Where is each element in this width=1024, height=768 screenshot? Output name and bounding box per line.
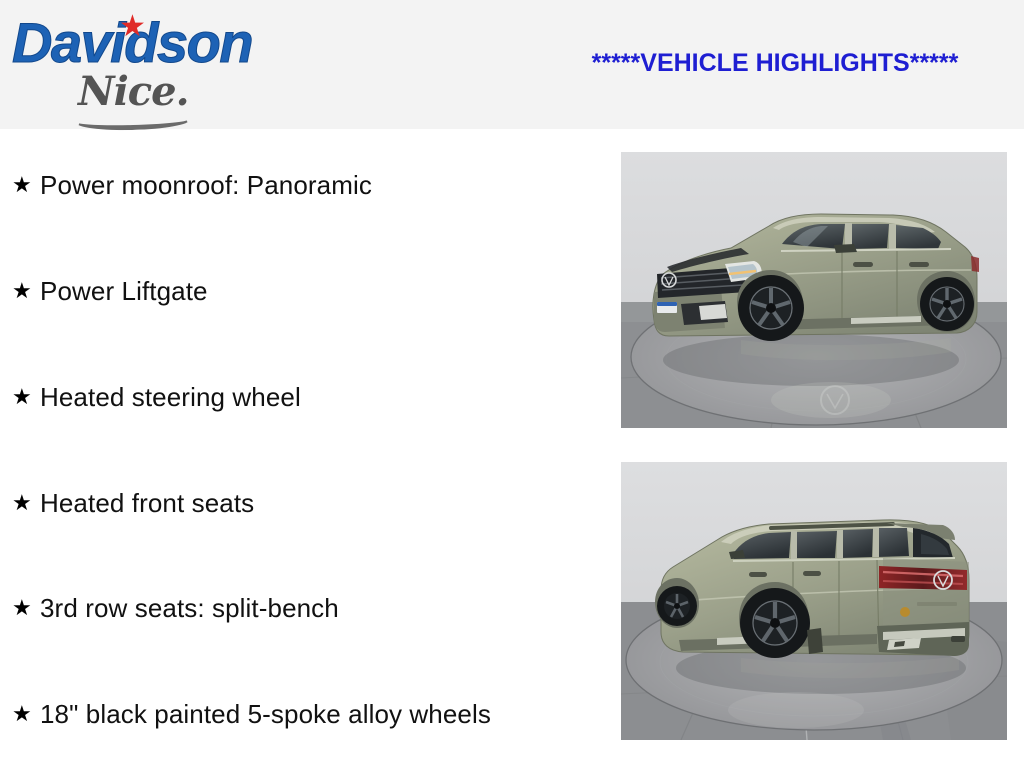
list-item: ★ Heated steering wheel bbox=[12, 380, 301, 414]
list-item: ★ 18" black painted 5-spoke alloy wheels bbox=[12, 697, 491, 731]
list-item-label: Power Liftgate bbox=[40, 274, 208, 308]
vehicle-rear-illustration bbox=[621, 462, 1007, 740]
list-item-label: 3rd row seats: split-bench bbox=[40, 591, 339, 625]
dealer-logo-secondary-text: Nice. bbox=[78, 70, 189, 114]
vehicle-front-illustration bbox=[621, 152, 1007, 428]
star-bullet-icon: ★ bbox=[12, 591, 40, 625]
list-item-label: Heated steering wheel bbox=[40, 380, 301, 414]
page-header: Davidson ★ Nice. *****VEHICLE HIGHLIGHTS… bbox=[0, 0, 1024, 129]
list-item: ★ 3rd row seats: split-bench bbox=[12, 591, 339, 625]
list-item: ★ Power Liftgate bbox=[12, 274, 208, 308]
vehicle-photo-front-three-quarter[interactable] bbox=[621, 152, 1007, 428]
page-title: *****VEHICLE HIGHLIGHTS***** bbox=[540, 49, 1010, 78]
list-item: ★ Power moonroof: Panoramic bbox=[12, 168, 372, 202]
list-item-label: Power moonroof: Panoramic bbox=[40, 168, 372, 202]
list-item: ★ Heated front seats bbox=[12, 486, 254, 520]
star-bullet-icon: ★ bbox=[12, 380, 40, 414]
vehicle-highlights-page: Davidson ★ Nice. *****VEHICLE HIGHLIGHTS… bbox=[0, 0, 1024, 768]
star-bullet-icon: ★ bbox=[12, 486, 40, 520]
dealer-logo[interactable]: Davidson ★ Nice. bbox=[10, 8, 260, 120]
list-item-label: Heated front seats bbox=[40, 486, 254, 520]
star-icon: ★ bbox=[119, 14, 145, 40]
vehicle-photo-rear-three-quarter[interactable] bbox=[621, 462, 1007, 740]
star-bullet-icon: ★ bbox=[12, 274, 40, 308]
list-item-label: 18" black painted 5-spoke alloy wheels bbox=[40, 697, 491, 731]
star-bullet-icon: ★ bbox=[12, 168, 40, 202]
star-bullet-icon: ★ bbox=[12, 697, 40, 731]
vehicle-highlights-list: ★ Power moonroof: Panoramic ★ Power Lift… bbox=[0, 129, 615, 768]
